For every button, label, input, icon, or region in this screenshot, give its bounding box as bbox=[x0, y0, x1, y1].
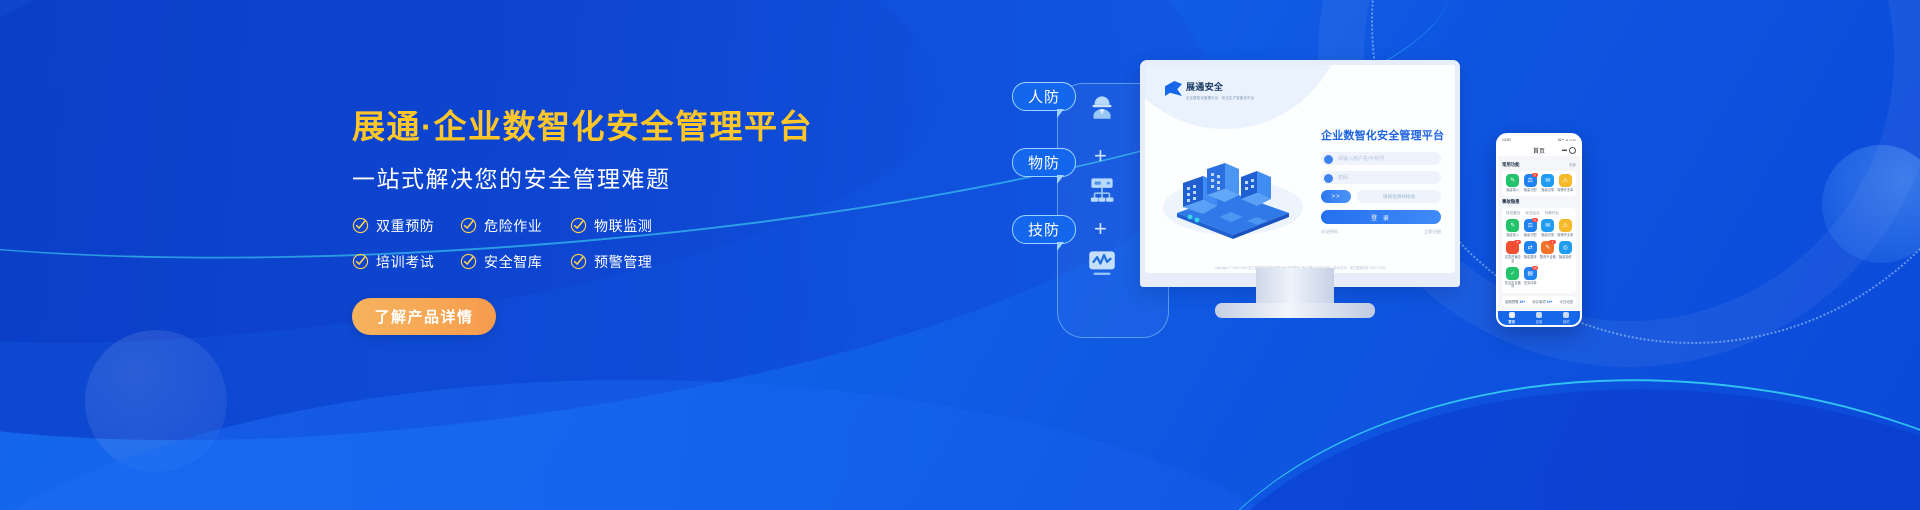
phone-tab[interactable]: 风险管控 bbox=[1506, 211, 1520, 216]
tabbar-label: 首页 bbox=[1508, 319, 1515, 324]
defense-badge-human: 人防 bbox=[1012, 82, 1076, 111]
phone-stats-row: 逾期预警 10+ 待办事项 10+ 今日动态 bbox=[1502, 296, 1576, 307]
feature-label: 预警管理 bbox=[594, 252, 652, 272]
check-circle-icon bbox=[460, 253, 477, 270]
app-label: 应急内管应急 bbox=[1504, 256, 1522, 263]
phone-app-item[interactable]: ◎ 隐患验收 bbox=[1557, 241, 1575, 263]
stat-item[interactable]: 待办事项 10+ bbox=[1532, 299, 1552, 304]
app-label: 隐患分配 bbox=[1524, 234, 1537, 238]
badge-count: 6 bbox=[1532, 173, 1539, 178]
phone-app-item[interactable]: ✎ 3 整改不合格 bbox=[1539, 241, 1557, 263]
check-circle-icon bbox=[570, 217, 587, 234]
stat-label: 逾期预警 bbox=[1505, 300, 1519, 304]
app-label: 隐患验收 bbox=[1559, 256, 1572, 260]
feature-label: 培训考试 bbox=[376, 252, 434, 272]
monitor-bezel: 展通安全 企业数智化管理平台 · 安全生产智能化平台 bbox=[1140, 60, 1460, 287]
mail-icon: ✉ bbox=[1541, 219, 1554, 232]
phone-app-item[interactable]: ✎ 隐患录入 bbox=[1504, 219, 1522, 237]
assign-icon: ⚖ 6 bbox=[1524, 174, 1537, 187]
feature-label: 物联监测 bbox=[594, 216, 652, 236]
app-label: 隐患录入 bbox=[1506, 234, 1519, 238]
badge-count: 9 bbox=[1514, 240, 1521, 245]
captcha-row: >> 请按住滑块拖动 bbox=[1321, 190, 1441, 203]
edit-icon: ✎ bbox=[1506, 219, 1519, 232]
register-link[interactable]: 立即注册 bbox=[1424, 229, 1441, 235]
app-label: 整改不合格 bbox=[1540, 256, 1556, 260]
app-label: 特殊作业单 bbox=[1557, 234, 1573, 238]
feature-item: 物联监测 bbox=[570, 216, 680, 236]
monitoring-waveform-icon bbox=[1085, 246, 1119, 280]
login-meta-links: 忘记密码 立即注册 bbox=[1321, 229, 1441, 235]
login-submit-button[interactable]: 登 录 bbox=[1321, 210, 1441, 224]
mobile-phone-mockup: 13:50 46 ᵃᵗ ⊿ ⊿ ▭ 首页 ▬ 常用功能 全部 ✎ bbox=[1496, 133, 1582, 327]
rail-plus-operator: + bbox=[1094, 145, 1107, 167]
badge-count: 3 bbox=[1549, 240, 1556, 245]
section-more-link[interactable]: 全部 bbox=[1569, 163, 1576, 168]
stat-item[interactable]: 今日动态 bbox=[1559, 299, 1573, 304]
captcha-slider-track[interactable]: 请按住滑块拖动 bbox=[1357, 190, 1441, 203]
feature-list: 双重预防 危险作业 物联监测 bbox=[352, 216, 812, 272]
section-title: 常用功能 bbox=[1502, 162, 1520, 168]
feature-item: 培训考试 bbox=[352, 252, 460, 272]
username-placeholder: 请输入用户名/手机号 bbox=[1338, 155, 1384, 162]
network-device-icon bbox=[1085, 173, 1119, 207]
gear-icon[interactable] bbox=[1569, 147, 1576, 154]
device-composition: 人防 物防 技防 + + bbox=[1020, 60, 1640, 390]
logo-subtext: 企业数智化管理平台 · 安全生产智能化平台 bbox=[1186, 95, 1254, 100]
phone-tab[interactable]: 特殊作业 bbox=[1545, 211, 1559, 216]
bottom-wave bbox=[0, 380, 1380, 510]
phone-app-item[interactable]: ⇄ 隐患整改 bbox=[1522, 241, 1540, 263]
rail-plus-operator: + bbox=[1094, 218, 1107, 240]
phone-app-grid: ✎ 隐患录入 ⚖ 6 隐患分配 ✉ 隐患记录 bbox=[1504, 174, 1574, 192]
phone-app-item[interactable]: ✓ 复活不合格项 bbox=[1504, 267, 1522, 289]
phone-section-card: ✎ 隐患录入 ⚖ 6 隐患分配 ✉ 隐患记录 bbox=[1502, 171, 1576, 196]
check-circle-icon bbox=[460, 217, 477, 234]
phone-tabbar-item-profile[interactable]: 我的 bbox=[1563, 312, 1570, 324]
password-field[interactable]: 密码 bbox=[1321, 171, 1441, 184]
check-icon: ✓ bbox=[1506, 267, 1519, 280]
feature-item: 危险作业 bbox=[460, 216, 570, 236]
assign-icon: ⚖ 6 bbox=[1524, 219, 1537, 232]
refresh-icon: ⇄ bbox=[1524, 241, 1537, 254]
app-label: 隐患记录 bbox=[1541, 189, 1554, 193]
hero-copy: 展通·企业数智化安全管理平台 一站式解决您的安全管理难题 双重预防 危险作业 bbox=[352, 108, 812, 335]
logo-mark-icon bbox=[1165, 81, 1182, 96]
phone-tabbar-item-apps[interactable]: 应用 bbox=[1536, 312, 1543, 324]
login-page: 展通安全 企业数智化管理平台 · 安全生产智能化平台 bbox=[1145, 65, 1455, 273]
phone-app-item[interactable]: ⚖ 6 隐患分配 bbox=[1522, 174, 1540, 192]
phone-tab[interactable]: 安全会议 bbox=[1525, 211, 1539, 216]
check-circle-icon bbox=[570, 253, 587, 270]
feature-label: 双重预防 bbox=[376, 216, 434, 236]
app-label: 复活不合格项 bbox=[1504, 282, 1522, 289]
password-placeholder: 密码 bbox=[1338, 174, 1348, 181]
alert-icon: ❗ 9 bbox=[1506, 241, 1519, 254]
phone-section-card: 风险管控 安全会议 特殊作业 ✎ 隐患录入 ⚖ 6 隐患 bbox=[1502, 208, 1576, 293]
phone-tab-bar: 首页 应用 我的 bbox=[1498, 311, 1580, 325]
app-label: 隐患整改 bbox=[1524, 256, 1537, 260]
phone-tabbar-item-home[interactable]: 首页 bbox=[1508, 312, 1515, 324]
app-label: 特殊作业单 bbox=[1557, 189, 1573, 193]
learn-more-button[interactable]: 了解产品详情 bbox=[352, 298, 496, 335]
phone-app-item[interactable]: ▤ 10 任务清单 bbox=[1522, 267, 1540, 289]
badge-count: 10 bbox=[1532, 266, 1539, 271]
isometric-buildings-icon bbox=[1163, 155, 1303, 245]
phone-section-header: 事故隐患 bbox=[1502, 199, 1576, 205]
phone-app-item[interactable]: ❗ 9 应急内管应急 bbox=[1504, 241, 1522, 263]
check-circle-icon bbox=[352, 217, 369, 234]
phone-nav-bar: 首页 ▬ bbox=[1498, 144, 1580, 156]
feature-label: 危险作业 bbox=[484, 216, 542, 236]
phone-app-item[interactable]: ✉ 隐患记录 bbox=[1539, 174, 1557, 192]
logo-text: 展通安全 bbox=[1186, 82, 1223, 92]
grid-icon bbox=[1536, 312, 1542, 318]
lock-icon bbox=[1324, 174, 1333, 183]
more-dots-icon[interactable]: ▬ bbox=[1562, 147, 1567, 153]
defense-badge-technical: 技防 bbox=[1012, 215, 1076, 244]
stat-value: 10+ bbox=[1547, 300, 1553, 304]
phone-status-bar: 13:50 46 ᵃᵗ ⊿ ⊿ ▭ bbox=[1498, 135, 1580, 144]
feature-label: 安全智库 bbox=[484, 252, 542, 272]
brand-logo: 展通安全 企业数智化管理平台 · 安全生产智能化平台 bbox=[1165, 77, 1254, 100]
feature-item: 双重预防 bbox=[352, 216, 460, 236]
stat-label: 今日动态 bbox=[1559, 300, 1573, 304]
mail-icon: ✉ bbox=[1541, 174, 1554, 187]
username-field[interactable]: 请输入用户名/手机号 bbox=[1321, 152, 1441, 165]
phone-app-item[interactable]: ⚠ 特殊作业单 bbox=[1557, 174, 1575, 192]
phone-tab-row: 风险管控 安全会议 特殊作业 bbox=[1504, 211, 1574, 219]
section-title: 事故隐患 bbox=[1502, 199, 1520, 205]
tabbar-label: 应用 bbox=[1536, 319, 1543, 324]
app-label: 隐患分配 bbox=[1524, 189, 1537, 193]
edit-icon: ✎ bbox=[1506, 174, 1519, 187]
forgot-password-link[interactable]: 忘记密码 bbox=[1321, 229, 1338, 235]
decorative-sphere-right bbox=[1822, 145, 1920, 263]
app-label: 隐患记录 bbox=[1541, 234, 1554, 238]
status-time: 13:50 bbox=[1502, 138, 1511, 142]
captcha-slider-handle[interactable]: >> bbox=[1321, 190, 1351, 203]
monitor-stand-base bbox=[1215, 303, 1375, 318]
hard-hat-worker-icon bbox=[1085, 90, 1119, 124]
check-circle-icon bbox=[352, 253, 369, 270]
badge-count: 6 bbox=[1532, 218, 1539, 223]
stat-value: 10+ bbox=[1520, 300, 1526, 304]
document-icon: ▤ 10 bbox=[1524, 267, 1537, 280]
hero-headline: 展通·企业数智化安全管理平台 bbox=[352, 108, 812, 146]
tabbar-label: 我的 bbox=[1563, 319, 1570, 324]
user-icon bbox=[1324, 155, 1333, 164]
phone-app-item[interactable]: ✎ 隐患录入 bbox=[1504, 174, 1522, 192]
reject-icon: ✎ 3 bbox=[1541, 241, 1554, 254]
app-label: 任务清单 bbox=[1524, 282, 1537, 286]
home-icon bbox=[1509, 312, 1515, 318]
person-icon bbox=[1563, 312, 1569, 318]
phone-section-header: 常用功能 全部 bbox=[1502, 162, 1576, 168]
decorative-circle-left bbox=[85, 330, 227, 472]
defense-badge-physical: 物防 bbox=[1012, 148, 1076, 177]
monitor-screen: 展通安全 企业数智化管理平台 · 安全生产智能化平台 bbox=[1145, 65, 1455, 273]
city-illustration bbox=[1163, 155, 1303, 245]
feature-item: 安全智库 bbox=[460, 252, 570, 272]
phone-app-item[interactable]: ⚠ 特殊作业单 bbox=[1557, 219, 1575, 237]
phone-app-grid: ✎ 隐患录入 ⚖ 6 隐患分配 ✉ 隐患记录 bbox=[1504, 219, 1574, 289]
hero-banner: 展通·企业数智化安全管理平台 一站式解决您的安全管理难题 双重预防 危险作业 bbox=[0, 0, 1920, 510]
stat-label: 待办事项 bbox=[1532, 300, 1546, 304]
phone-app-item[interactable]: ⚖ 6 隐患分配 bbox=[1522, 219, 1540, 237]
feature-item: 预警管理 bbox=[570, 252, 680, 272]
login-title: 企业数智化安全管理平台 bbox=[1321, 127, 1441, 143]
stat-item[interactable]: 逾期预警 10+ bbox=[1505, 299, 1525, 304]
monitor-stand-neck bbox=[1256, 268, 1334, 308]
camera-icon: ◎ bbox=[1559, 241, 1572, 254]
hero-subheadline: 一站式解决您的安全管理难题 bbox=[352, 160, 812, 194]
warning-icon: ⚠ bbox=[1559, 174, 1572, 187]
phone-content: 常用功能 全部 ✎ 隐患录入 ⚖ 6 隐患分配 bbox=[1498, 156, 1580, 310]
phone-app-item[interactable]: ✉ 隐患记录 bbox=[1539, 219, 1557, 237]
phone-nav-title: 首页 bbox=[1533, 146, 1545, 155]
warning-icon: ⚠ bbox=[1559, 219, 1572, 232]
app-label: 隐患录入 bbox=[1506, 189, 1519, 193]
status-indicators: 46 ᵃᵗ ⊿ ⊿ ▭ bbox=[1558, 138, 1576, 142]
login-form: 企业数智化安全管理平台 请输入用户名/手机号 密码 >> bbox=[1321, 127, 1441, 235]
